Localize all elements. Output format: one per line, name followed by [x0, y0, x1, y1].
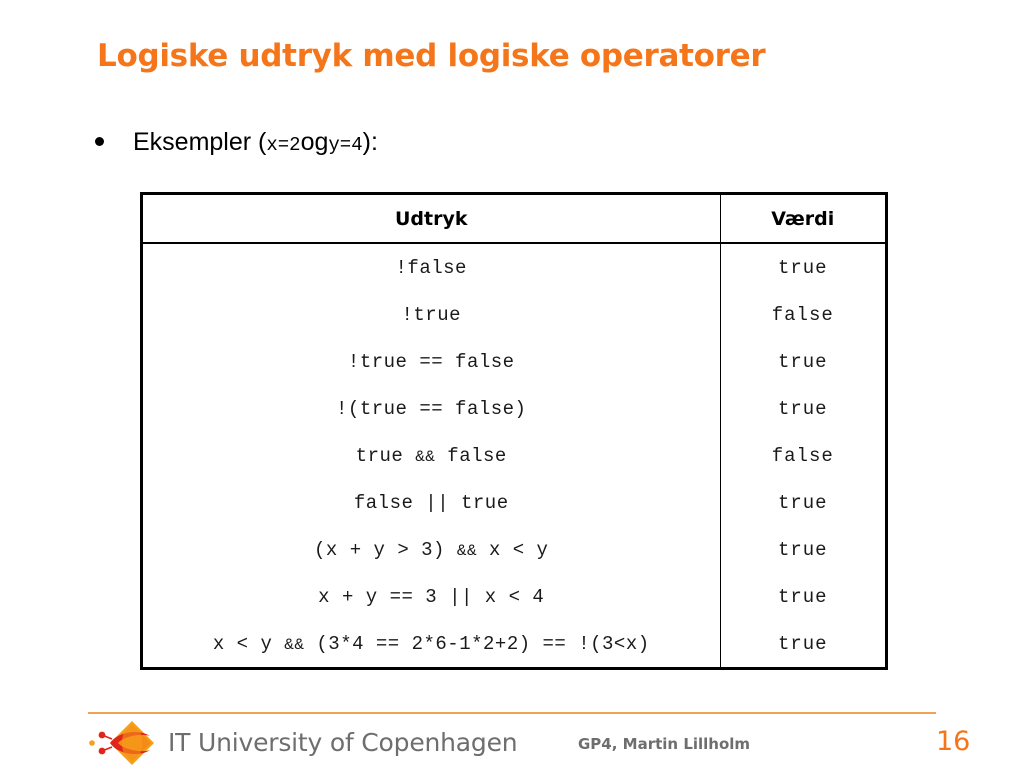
value-cell: true — [720, 243, 885, 291]
table-row: x + y == 3 || x < 4true — [143, 573, 885, 620]
expression-cell: !false — [143, 243, 720, 291]
expression-cell: !true == false — [143, 338, 720, 385]
value-cell: true — [720, 573, 885, 620]
bullet-text-middle: og — [301, 130, 329, 155]
expressions-table: Udtryk Værdi !falsetrue!truefalse!true =… — [140, 192, 888, 670]
variable-x-value: x=2 — [266, 134, 300, 156]
column-header-expression: Udtryk — [143, 195, 720, 243]
variable-y-value: y=4 — [328, 134, 362, 156]
table-row: x < y && (3*4 == 2*6-1*2+2) == !(3<x)tru… — [143, 620, 885, 667]
footer-credit: GP4, Martin Lillholm — [578, 735, 750, 753]
table-row: !(true == false)true — [143, 385, 885, 432]
footer-divider — [88, 712, 936, 714]
value-cell: true — [720, 620, 885, 667]
value-cell: false — [720, 432, 885, 479]
table-row: false || truetrue — [143, 479, 885, 526]
table-row: !truefalse — [143, 291, 885, 338]
table-header-row: Udtryk Værdi — [143, 195, 885, 243]
bullet-list-item: Eksempler ( x=2 og y=4 ): — [95, 130, 378, 156]
page-title: Logiske udtryk med logiske operatorer — [97, 38, 765, 74]
expression-cell: !true — [143, 291, 720, 338]
value-cell: true — [720, 385, 885, 432]
table-body: !falsetrue!truefalse!true == falsetrue!(… — [143, 243, 885, 667]
bullet-dot-icon — [95, 137, 104, 146]
value-cell: true — [720, 526, 885, 573]
slide-footer: IT University of Copenhagen GP4, Martin … — [88, 720, 988, 768]
value-cell: false — [720, 291, 885, 338]
value-cell: true — [720, 338, 885, 385]
and-operator: && — [284, 636, 304, 654]
page-number: 16 — [936, 726, 970, 757]
expression-cell: x + y == 3 || x < 4 — [143, 573, 720, 620]
expression-cell: false || true — [143, 479, 720, 526]
bullet-text-after: ): — [363, 130, 378, 155]
expression-cell: (x + y > 3) && x < y — [143, 526, 720, 573]
table-row: true && falsefalse — [143, 432, 885, 479]
university-name: IT University of Copenhagen — [168, 728, 517, 757]
expression-cell: !(true == false) — [143, 385, 720, 432]
and-operator: && — [415, 448, 435, 466]
and-operator: && — [457, 542, 477, 560]
table-row: (x + y > 3) && x < ytrue — [143, 526, 885, 573]
value-cell: true — [720, 479, 885, 526]
expression-cell: x < y && (3*4 == 2*6-1*2+2) == !(3<x) — [143, 620, 720, 667]
expression-cell: true && false — [143, 432, 720, 479]
column-header-value: Værdi — [720, 195, 885, 243]
itu-logo-icon — [88, 720, 166, 766]
bullet-text-before: Eksempler ( — [133, 130, 266, 155]
table-row: !falsetrue — [143, 243, 885, 291]
table-row: !true == falsetrue — [143, 338, 885, 385]
